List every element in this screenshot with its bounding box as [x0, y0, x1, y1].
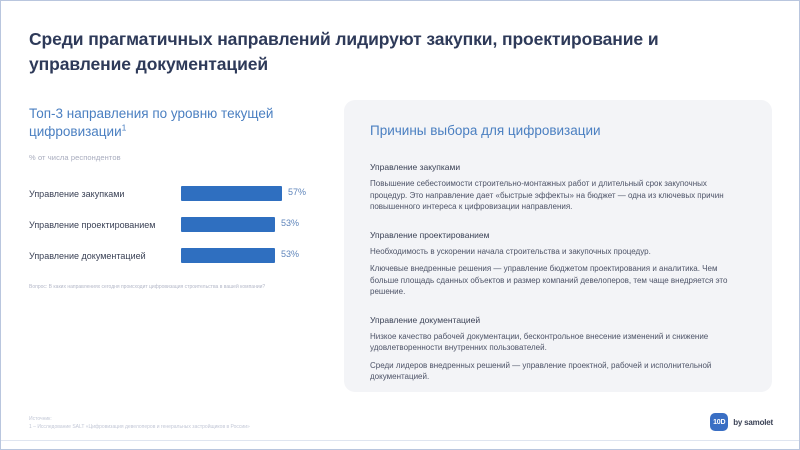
reason-section-title: Управление закупками: [370, 162, 746, 172]
reason-section-title: Управление проектированием: [370, 230, 746, 240]
reasons-card: Причины выбора для цифровизации Управлен…: [344, 100, 772, 392]
bar-category-label: Управление документацией: [29, 251, 181, 261]
bar-value-label: 53%: [281, 218, 299, 228]
bar-track: 53%: [181, 217, 329, 232]
source-label: Источник:: [29, 415, 250, 423]
bar-value-label: 53%: [281, 249, 299, 259]
chart-heading: Топ-3 направления по уровню текущей цифр…: [29, 105, 329, 141]
bar-category-label: Управление проектированием: [29, 220, 181, 230]
source-note: Источник: 1 – Исследование SALT «Цифрови…: [29, 415, 250, 431]
bar-category-label: Управление закупками: [29, 189, 181, 199]
chart-panel: Топ-3 направления по уровню текущей цифр…: [29, 105, 329, 291]
reason-section-title: Управление документацией: [370, 315, 746, 325]
bar-fill: [181, 217, 275, 232]
reason-section-paragraph: Повышение себестоимости строительно-монт…: [370, 178, 746, 213]
reasons-sections: Управление закупками Повышение себестоим…: [370, 162, 746, 383]
bar-fill: [181, 248, 275, 263]
brand-logo: 10D by samolet: [710, 413, 773, 431]
reason-section-paragraph: Необходимость в ускорении начала строите…: [370, 246, 746, 258]
reason-section-paragraph: Ключевые внедренные решения — управление…: [370, 263, 746, 298]
reason-section-paragraph: Среди лидеров внедренных решений — управ…: [370, 360, 746, 383]
logo-mark-icon: 10D: [710, 413, 728, 431]
reason-section: Управление закупками Повышение себестоим…: [370, 162, 746, 213]
chart-subtitle: % от числа респондентов: [29, 153, 329, 162]
chart-question-note: Вопрос: В каких направлениях сегодня про…: [29, 283, 299, 291]
reason-section: Управление проектированием Необходимость…: [370, 230, 746, 298]
reason-section: Управление документацией Низкое качество…: [370, 315, 746, 383]
bar-row: Управление проектированием 53%: [29, 217, 329, 232]
bar-row: Управление закупками 57%: [29, 186, 329, 201]
bar-chart: Управление закупками 57% Управление прое…: [29, 186, 329, 263]
bar-fill: [181, 186, 282, 201]
chart-heading-text: Топ-3 направления по уровню текущей цифр…: [29, 106, 273, 139]
footer-divider: [1, 440, 799, 441]
bar-value-label: 57%: [288, 187, 306, 197]
logo-wordmark: by samolet: [733, 418, 773, 427]
bar-row: Управление документацией 53%: [29, 248, 329, 263]
bar-track: 57%: [181, 186, 329, 201]
page-title: Среди прагматичных направлений лидируют …: [29, 27, 739, 77]
chart-heading-footnote-marker: 1: [122, 123, 127, 133]
reason-section-paragraph: Низкое качество рабочей документации, бе…: [370, 331, 746, 354]
source-reference: 1 – Исследование SALT «Цифровизация деве…: [29, 423, 250, 431]
bar-track: 53%: [181, 248, 329, 263]
reasons-card-heading: Причины выбора для цифровизации: [370, 122, 746, 140]
slide-root: Среди прагматичных направлений лидируют …: [0, 0, 800, 450]
